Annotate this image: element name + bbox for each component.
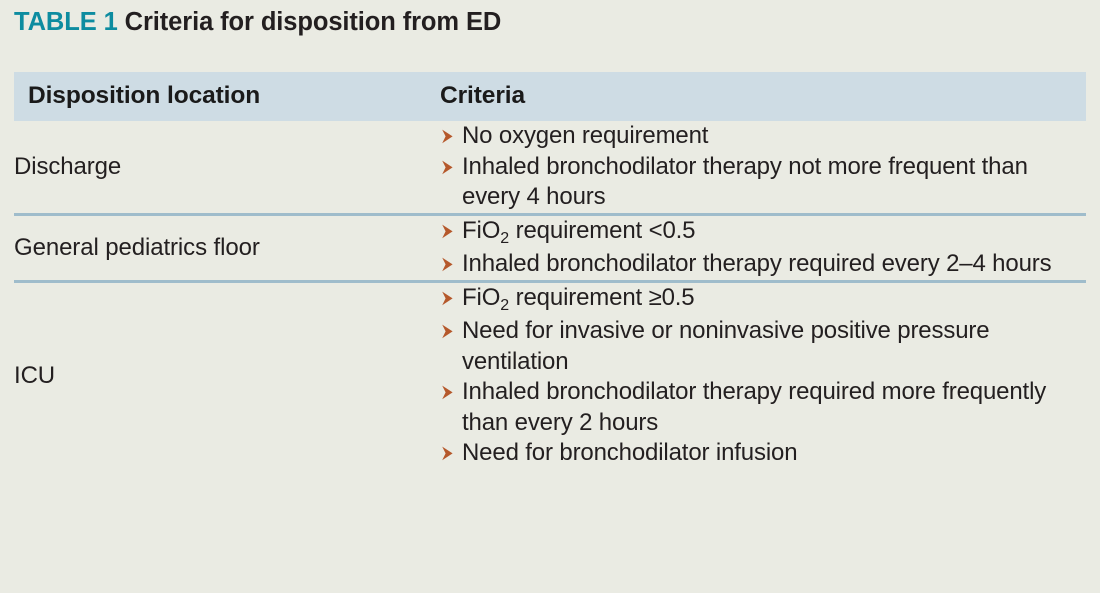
criteria-text: Inhaled bronchodilator therapy required …: [462, 250, 1051, 277]
criteria-item: Inhaled bronchodilator therapy not more …: [440, 152, 1086, 213]
arrow-right-icon: [440, 249, 458, 280]
criteria-item: Inhaled bronchodilator therapy required …: [440, 249, 1086, 280]
disposition-location-cell: General pediatrics floor: [14, 214, 440, 281]
criteria-list: FiO2 requirement ≥0.5Need for invasive o…: [440, 283, 1086, 469]
arrow-right-icon: [440, 377, 458, 408]
table-row: General pediatrics floorFiO2 requirement…: [14, 214, 1086, 281]
criteria-item: FiO2 requirement ≥0.5: [440, 283, 1086, 317]
disposition-location-cell: ICU: [14, 281, 440, 469]
criteria-text: Inhaled bronchodilator therapy required …: [462, 378, 1046, 436]
table-header: Disposition location Criteria: [14, 72, 1086, 121]
table-caption: TABLE 1 Criteria for disposition from ED: [14, 8, 501, 37]
criteria-list: No oxygen requirementInhaled bronchodila…: [440, 121, 1086, 213]
arrow-right-icon: [440, 438, 458, 469]
criteria-subscript: 2: [500, 230, 509, 247]
criteria-text-suffix: requirement ≥0.5: [509, 284, 694, 311]
criteria-text: Need for invasive or noninvasive positiv…: [462, 317, 989, 375]
criteria-table: Disposition location Criteria DischargeN…: [14, 72, 1086, 469]
column-header-disposition-location: Disposition location: [14, 72, 440, 121]
criteria-cell: FiO2 requirement ≥0.5Need for invasive o…: [440, 281, 1086, 469]
criteria-list: FiO2 requirement <0.5Inhaled bronchodila…: [440, 216, 1086, 280]
table-body: DischargeNo oxygen requirementInhaled br…: [14, 121, 1086, 469]
column-header-criteria: Criteria: [440, 72, 1086, 121]
criteria-text: Inhaled bronchodilator therapy not more …: [462, 153, 1028, 211]
table-row: ICUFiO2 requirement ≥0.5Need for invasiv…: [14, 281, 1086, 469]
table-title-text: [118, 8, 125, 36]
table-figure: TABLE 1 Criteria for disposition from ED…: [0, 0, 1100, 593]
disposition-location-cell: Discharge: [14, 121, 440, 214]
arrow-right-icon: [440, 316, 458, 347]
criteria-text: FiO: [462, 217, 500, 244]
table-title: Criteria for disposition from ED: [125, 8, 502, 36]
criteria-cell: No oxygen requirementInhaled bronchodila…: [440, 121, 1086, 214]
criteria-item: No oxygen requirement: [440, 121, 1086, 152]
criteria-cell: FiO2 requirement <0.5Inhaled bronchodila…: [440, 214, 1086, 281]
table-number-label: TABLE 1: [14, 8, 118, 36]
criteria-text: Need for bronchodilator infusion: [462, 439, 797, 466]
arrow-right-icon: [440, 283, 458, 314]
arrow-right-icon: [440, 216, 458, 247]
criteria-item: FiO2 requirement <0.5: [440, 216, 1086, 250]
criteria-item: Need for bronchodilator infusion: [440, 438, 1086, 469]
table-header-row: Disposition location Criteria: [14, 72, 1086, 121]
table-row: DischargeNo oxygen requirementInhaled br…: [14, 121, 1086, 214]
arrow-right-icon: [440, 121, 458, 152]
criteria-text: No oxygen requirement: [462, 122, 708, 149]
criteria-text-suffix: requirement <0.5: [509, 217, 695, 244]
criteria-text: FiO: [462, 284, 500, 311]
criteria-item: Need for invasive or noninvasive positiv…: [440, 316, 1086, 377]
criteria-subscript: 2: [500, 297, 509, 314]
arrow-right-icon: [440, 152, 458, 183]
criteria-item: Inhaled bronchodilator therapy required …: [440, 377, 1086, 438]
